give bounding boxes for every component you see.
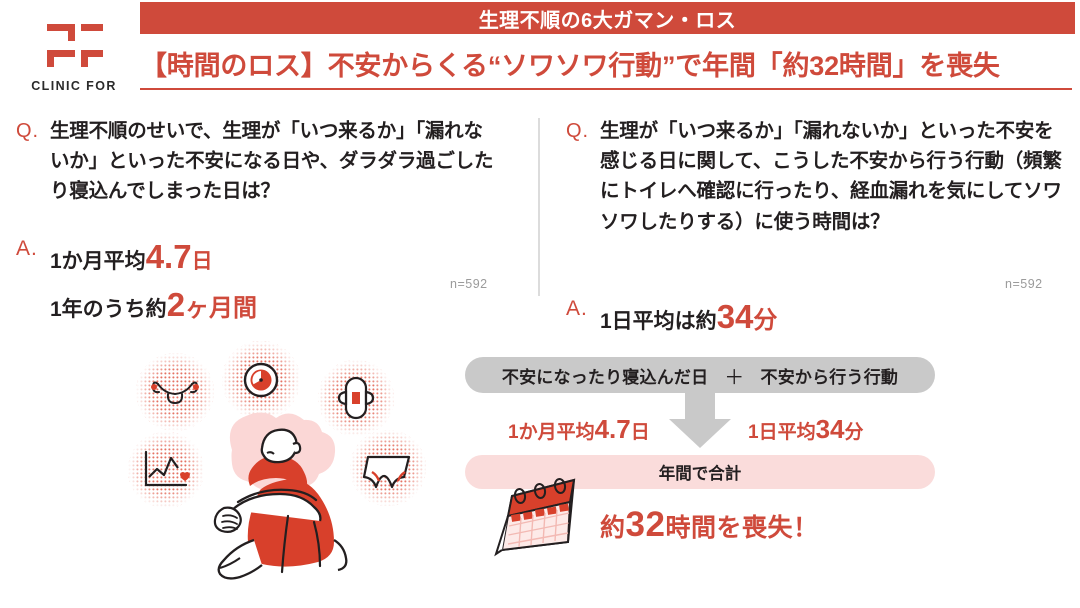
flow-right-prefix: 1日平均	[748, 422, 816, 443]
question-text-left: 生理不順のせいで、生理が「いつ来るか」「漏れないか」といった不安になる日や、ダラ…	[50, 116, 502, 207]
flow-value-right: 1日平均34分	[748, 414, 864, 445]
brand-logo: CLINIC FOR	[18, 18, 130, 96]
flow-right-value: 34	[816, 414, 845, 444]
qa-block-left: Q. 生理不順のせいで、生理が「いつ来るか」「漏れないか」といった不安になる日や…	[16, 116, 516, 328]
sample-size-left: n=592	[450, 277, 488, 291]
flow-left-prefix: 1か月平均	[508, 422, 595, 443]
clock-icon	[245, 364, 277, 396]
answer-line2-unit: ヶ月間	[185, 295, 257, 322]
header-subtitle: 【時間のロス】不安からくる“ソワソワ行動”で年間「約32時間」を喪失	[140, 40, 1075, 86]
answer-text-left: 1か月平均4.7日 1年のうち約2ヶ月間	[50, 233, 257, 329]
question-marker-right: Q.	[566, 116, 600, 147]
banner-title: 生理不順の6大ガマン・ロス	[479, 4, 737, 33]
annual-total-label: 年間で合計	[659, 460, 742, 484]
flow-value-left: 1か月平均4.7日	[508, 414, 650, 445]
question-marker-left: Q.	[16, 116, 50, 147]
calendar-svg	[482, 458, 592, 558]
pill-right-label: 不安から行う行動	[761, 363, 899, 388]
answer-marker-right: A.	[566, 293, 600, 325]
result-value: 32	[626, 505, 666, 544]
answer-value-right: 34	[717, 298, 754, 335]
sitting-woman-illustration	[128, 340, 428, 585]
flow-left-value: 4.7	[595, 414, 631, 444]
question-row-left: Q. 生理不順のせいで、生理が「いつ来るか」「漏れないか」といった不安になる日や…	[16, 116, 516, 207]
sample-size-right: n=592	[1005, 277, 1043, 291]
result-suffix: 時間を喪失！	[665, 514, 818, 542]
answer-prefix-right: 1日平均は約	[600, 310, 717, 333]
answer-line-1: 1か月平均4.7日	[50, 233, 257, 281]
answer-line2-value: 2	[167, 286, 185, 323]
clinic-cross-icon	[33, 18, 115, 70]
answer-line1-prefix: 1か月平均	[50, 250, 146, 273]
illustration-svg	[128, 340, 428, 585]
question-row-right: Q. 生理が「いつ来るか」「漏れないか」といった不安を感じる日に関して、こうした…	[566, 116, 1071, 237]
header-banner: 生理不順の6大ガマン・ロス	[140, 2, 1075, 34]
infographic-page: CLINIC FOR 生理不順の6大ガマン・ロス 【時間のロス】不安からくる“ソ…	[0, 0, 1080, 608]
question-text-right: 生理が「いつ来るか」「漏れないか」といった不安を感じる日に関して、こうした不安か…	[600, 116, 1062, 237]
answer-line1-unit: 日	[192, 250, 213, 273]
header-rule	[140, 88, 1072, 90]
answer-text-right: 1日平均は約34分	[600, 293, 777, 341]
answer-line1-value: 4.7	[146, 238, 192, 275]
qa-block-right: Q. 生理が「いつ来るか」「漏れないか」といった不安を感じる日に関して、こうした…	[566, 116, 1071, 341]
annual-loss-result: 約32時間を喪失！	[600, 505, 818, 545]
result-prefix: 約	[600, 514, 626, 542]
answer-unit-right: 分	[753, 307, 777, 334]
pill-left-label: 不安になったり寝込んだ日	[502, 363, 708, 388]
plus-icon: ＋	[724, 361, 744, 390]
calendar-icon	[482, 458, 592, 558]
answer-row-left: A. 1か月平均4.7日 1年のうち約2ヶ月間	[16, 233, 516, 329]
answer-line-2: 1年のうち約2ヶ月間	[50, 281, 257, 329]
brand-name: CLINIC FOR	[18, 79, 130, 93]
column-divider	[538, 118, 540, 296]
summary-inputs-pill: 不安になったり寝込んだ日 ＋ 不安から行う行動	[465, 357, 935, 393]
answer-line2-prefix: 1年のうち約	[50, 298, 167, 321]
subtitle-text: 【時間のロス】不安からくる“ソワソワ行動”で年間「約32時間」を喪失	[140, 44, 1000, 83]
answer-row-right: A. 1日平均は約34分	[566, 293, 1071, 341]
down-arrow-icon	[669, 391, 731, 448]
flow-right-unit: 分	[845, 422, 864, 443]
flow-left-unit: 日	[631, 422, 650, 443]
answer-marker-left: A.	[16, 233, 50, 265]
